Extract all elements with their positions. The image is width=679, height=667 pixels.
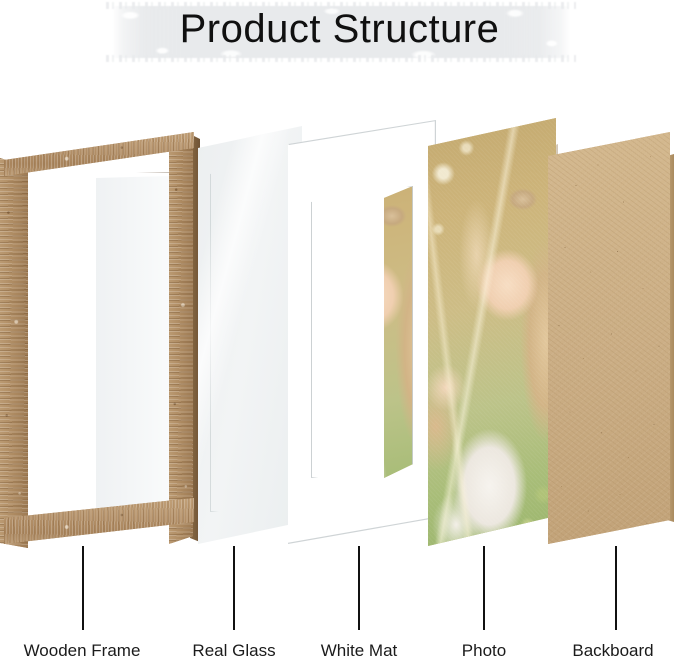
leader-line-real-glass [233,546,235,630]
photo-print [428,118,556,546]
label-wooden-frame: Wooden Frame [14,640,150,662]
layer-white-mat [288,120,448,544]
layer-photo [428,118,568,546]
frame-inner-reflection [96,176,172,516]
layer-labels: Wooden Frame Real Glass White Mat Photo … [0,640,679,667]
mat-cutout-window [311,186,413,478]
layer-backboard [548,132,679,544]
leader-line-backboard [615,546,617,630]
frame-rail-left [0,158,28,548]
page-title: Product Structure [0,3,679,55]
glass-reflection [198,126,302,544]
layer-wooden-frame [0,132,200,544]
product-structure-infographic: Product Structure [0,0,679,667]
label-backboard: Backboard [563,640,663,662]
leader-line-photo [483,546,485,630]
label-white-mat: White Mat [310,640,408,662]
leader-line-white-mat [358,546,360,630]
frame-rail-right [169,132,193,544]
exploded-view-diagram [0,118,679,538]
title-banner: Product Structure [0,0,679,72]
photo-grain-overlay [428,118,556,546]
leader-line-wooden-frame [82,546,84,630]
label-photo: Photo [453,640,515,662]
label-real-glass: Real Glass [184,640,284,662]
backboard-panel [548,132,670,544]
frame-rail-top [4,132,194,178]
